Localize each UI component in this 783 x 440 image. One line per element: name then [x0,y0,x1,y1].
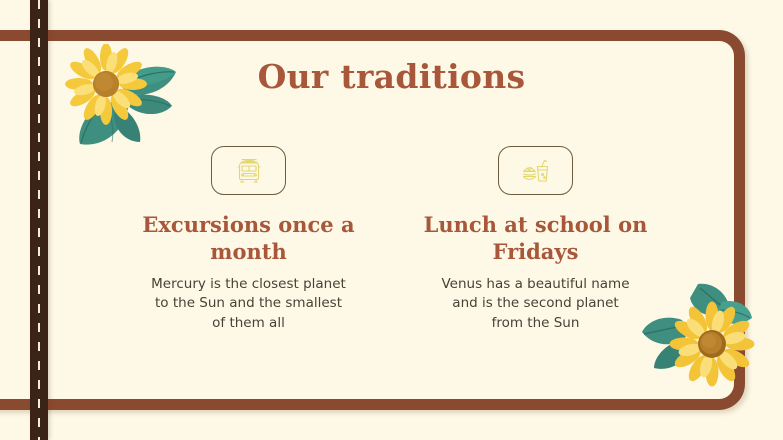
feature-column-excursions: Excursions once a month Mercury is the c… [116,146,381,333]
feature-body-excursions: Mercury is the closest planet to the Sun… [151,275,347,333]
bus-icon [232,154,266,188]
feature-column-lunch: Lunch at school on Fridays Venus has a b… [403,146,668,333]
burger-drink-icon [519,154,553,188]
feature-columns: Excursions once a month Mercury is the c… [116,146,716,333]
feature-heading-excursions: Excursions once a month [134,212,364,266]
page-title: Our traditions [0,57,783,96]
icon-box-burger-drink [498,146,573,195]
slide-canvas: Our traditions [0,0,783,440]
feature-heading-lunch: Lunch at school on Fridays [421,212,651,266]
icon-box-bus [211,146,286,195]
feature-body-lunch: Venus has a beautiful name and is the se… [438,275,634,333]
